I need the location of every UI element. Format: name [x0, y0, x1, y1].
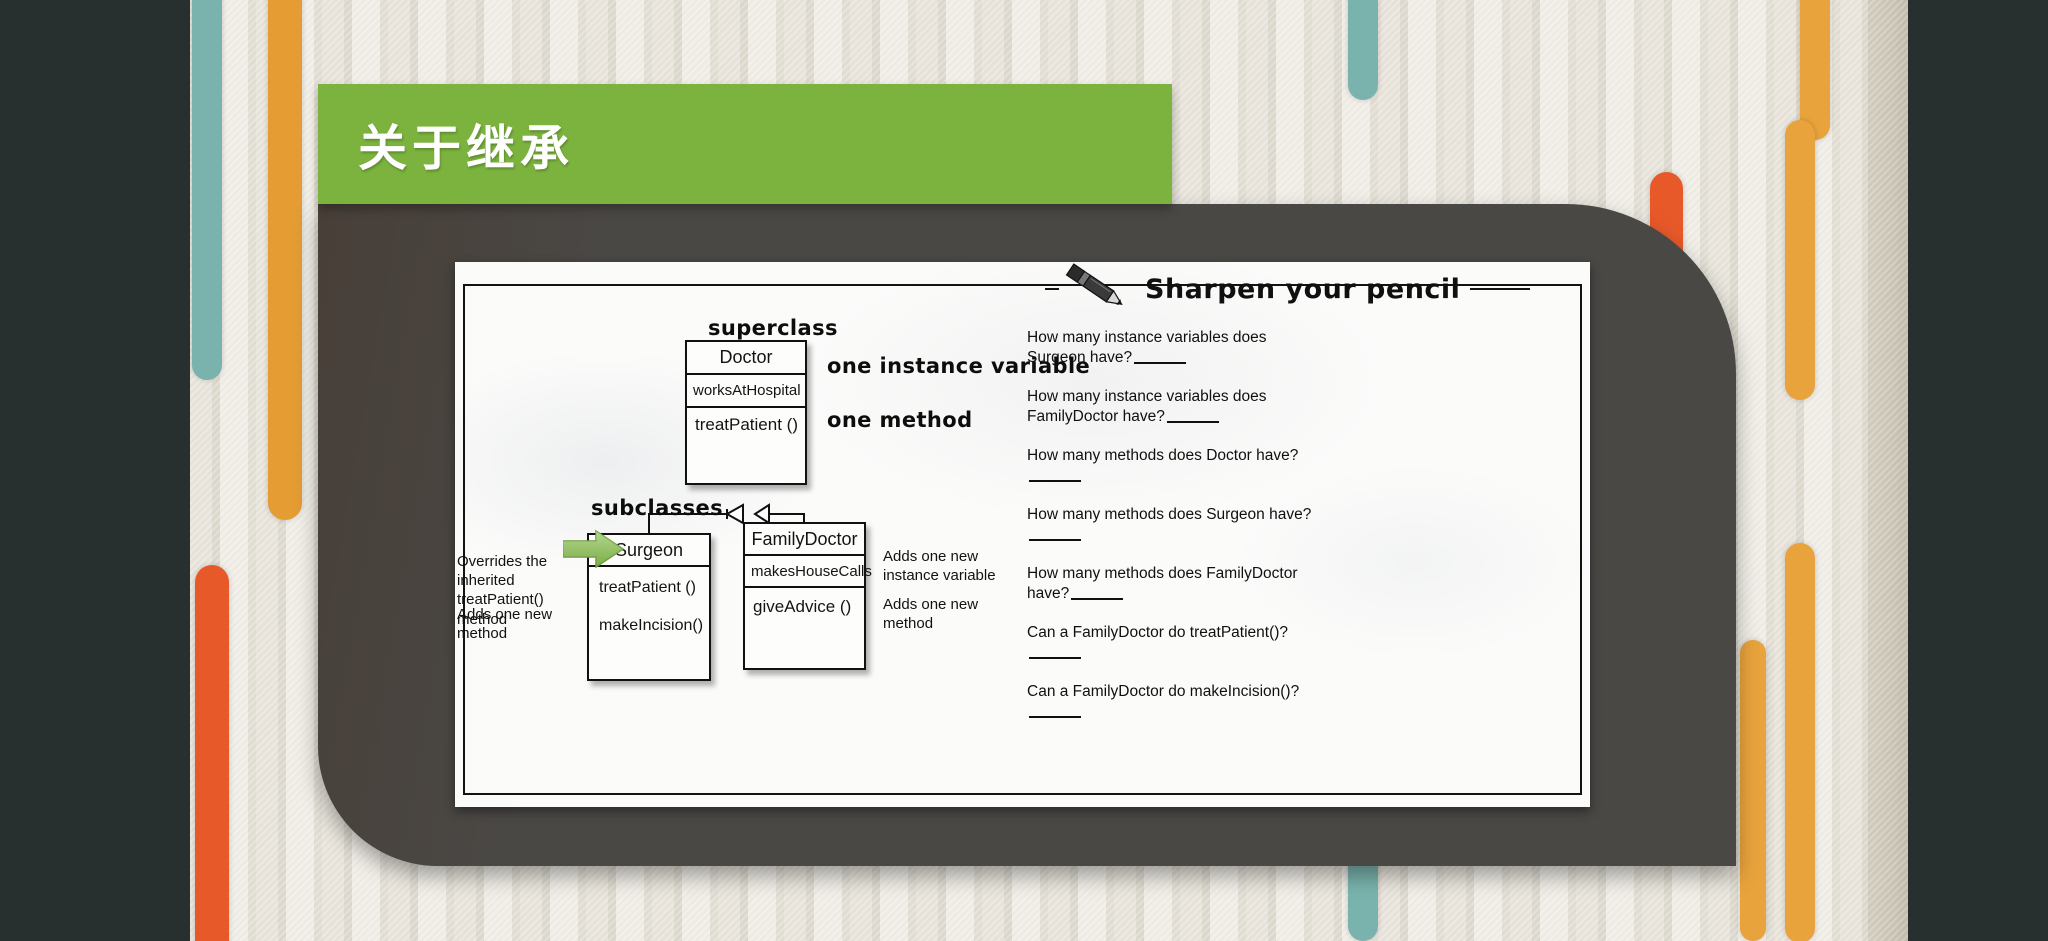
wallpaper-warm-band	[1868, 0, 1908, 941]
orange-bar-upper-right	[1800, 0, 1830, 140]
uml-class-familydoctor: FamilyDoctor makesHouseCalls giveAdvice …	[743, 522, 866, 670]
slide-stage: 关于继承 Sharpen your pencil	[0, 0, 2048, 941]
orange-bar-right	[1785, 120, 1815, 400]
sharpen-your-pencil-label: Sharpen your pencil	[1145, 274, 1460, 305]
answer-blank[interactable]	[1071, 598, 1123, 600]
sharpen-your-pencil-header: Sharpen your pencil	[1045, 264, 1585, 314]
green-arrow-icon	[563, 529, 625, 580]
familydoctor-class-name: FamilyDoctor	[745, 524, 864, 556]
surgeon-methods: treatPatient () makeIncision()	[589, 567, 709, 683]
red-bar-left-lower	[195, 565, 229, 941]
orange-bar-left	[268, 0, 302, 520]
familydoctor-method: giveAdvice ()	[745, 588, 864, 672]
question-text: How many methods does Doctor have?	[1027, 447, 1298, 464]
doctor-class-name: Doctor	[687, 342, 805, 375]
question-item: How many methods does FamilyDoctor have?	[1027, 564, 1327, 603]
orange-bar-right-mid	[1740, 640, 1766, 941]
question-item: How many methods does Surgeon have?	[1027, 505, 1327, 544]
question-text: How many methods does Surgeon have?	[1027, 506, 1311, 523]
question-text: How many instance variables does FamilyD…	[1027, 388, 1267, 425]
question-list: How many instance variables does Surgeon…	[1027, 328, 1327, 741]
annotation-surgeon-add-method: Adds one new method	[457, 605, 587, 643]
teal-bar-left	[192, 0, 222, 380]
question-item: How many instance variables does FamilyD…	[1027, 387, 1327, 426]
question-item: Can a FamilyDoctor do treatPatient()?	[1027, 623, 1327, 662]
teal-bar-upper-right	[1348, 0, 1378, 100]
question-text: How many instance variables does Surgeon…	[1027, 329, 1267, 366]
superclass-label: superclass	[708, 316, 838, 340]
answer-blank[interactable]	[1167, 421, 1219, 423]
question-text: Can a FamilyDoctor do makeIncision()?	[1027, 683, 1299, 700]
question-text: How many methods does FamilyDoctor have?	[1027, 565, 1298, 602]
letterbox-right	[1908, 0, 2048, 941]
familydoctor-instance-variable: makesHouseCalls	[745, 556, 864, 588]
answer-blank[interactable]	[1134, 362, 1186, 364]
one-method-callout: one method	[827, 408, 973, 432]
page-title: 关于继承	[358, 109, 574, 180]
letterbox-left	[0, 0, 190, 941]
question-item: How many instance variables does Surgeon…	[1027, 328, 1327, 367]
surgeon-method-1: treatPatient ()	[599, 579, 709, 597]
doctor-method: treatPatient ()	[687, 408, 805, 485]
answer-blank[interactable]	[1029, 480, 1081, 482]
subclasses-label: subclasses	[591, 496, 723, 520]
question-text: Can a FamilyDoctor do treatPatient()?	[1027, 624, 1288, 641]
header-rule-right	[1470, 288, 1530, 290]
annotation-familydoctor-add-ivar: Adds one new instance variable	[883, 547, 1003, 585]
uml-class-doctor: Doctor worksAtHospital treatPatient ()	[685, 340, 807, 485]
question-item: How many methods does Doctor have?	[1027, 446, 1327, 485]
doctor-instance-variable: worksAtHospital	[687, 375, 805, 408]
pencil-icon	[1057, 263, 1137, 316]
question-item: Can a FamilyDoctor do makeIncision()?	[1027, 682, 1327, 721]
answer-blank[interactable]	[1029, 657, 1081, 659]
orange-bar-right-lower	[1785, 543, 1815, 941]
surgeon-method-2: makeIncision()	[599, 617, 709, 635]
title-banner: 关于继承	[318, 84, 1172, 204]
exercise-scan-page: Sharpen your pencil superclass subclasse…	[455, 262, 1590, 807]
answer-blank[interactable]	[1029, 539, 1081, 541]
annotation-familydoctor-add-method: Adds one new method	[883, 595, 1023, 633]
answer-blank[interactable]	[1029, 716, 1081, 718]
